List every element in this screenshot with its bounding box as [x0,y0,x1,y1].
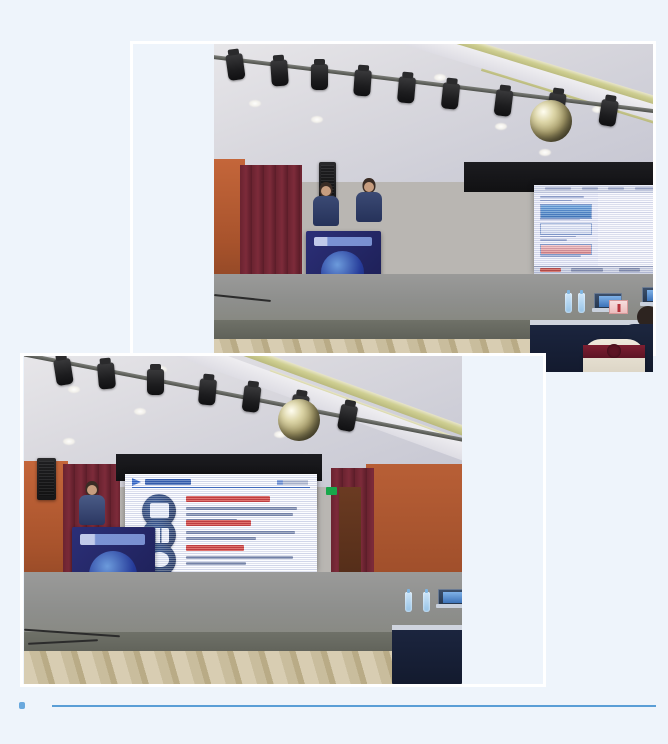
slide-thumbnail [540,204,593,218]
page-canvas [0,0,668,744]
arrow-right-icon [132,478,141,486]
stage-spotlight [270,60,289,87]
pa-speaker [37,458,56,500]
slide-bullet-text [186,543,302,568]
slide-bullet-row [142,543,302,565]
presentation-window [534,185,653,274]
laptop [640,287,653,307]
bullet-line [186,556,293,559]
stage-spotlight [354,70,373,97]
laptop-screen [443,592,462,603]
stage-spotlight [441,83,461,111]
slide-bullet-row [142,494,302,516]
presenter-body [313,196,339,226]
stage-spotlight [397,76,416,103]
water-bottle [565,293,572,313]
stage-spotlight [225,53,245,81]
presenter-body [356,192,382,222]
ceiling-downlight [249,100,261,107]
stage-floor [214,274,653,326]
presenter-face [87,485,97,495]
ceiling-downlight [434,74,446,81]
stage-spotlight [493,89,513,117]
figure-1-photo[interactable] [214,44,653,372]
slide-thumbnail [540,223,593,235]
slide-heading-band [145,479,191,485]
bullet-line [186,507,297,510]
mirror-ball [278,399,320,441]
bullet-heading [186,496,269,502]
slide-thumbnail-panel [534,193,598,267]
conference-hall-scene-2 [24,356,462,684]
slide-bullet-text [186,518,302,543]
laptop [436,589,462,609]
slide-canvas [598,193,653,267]
presenter [354,178,384,224]
ceiling-downlight [311,116,323,123]
water-bottle [578,293,585,313]
chair-sash-knot [607,344,621,358]
footer-rule [52,705,656,707]
audience-table [392,625,462,684]
podium-emblem [80,534,145,545]
stage-spotlight [53,358,74,386]
stage-spotlight [198,378,217,405]
led-screen [534,185,653,274]
slide-bullet-row [142,518,302,540]
window-taskbar [534,266,653,274]
table-edge [392,625,462,630]
bullet-line [186,562,246,565]
presenter [77,481,107,531]
bullet-line [186,537,256,540]
presenter-body [79,495,105,525]
ceiling-downlight [68,386,80,393]
ceiling-downlight [495,123,507,130]
footer-marker [19,702,25,709]
bullet-line [186,531,295,534]
mirror-ball [530,100,572,142]
bullet-line [186,513,293,516]
presenter-face [321,186,331,196]
stage-spotlight [311,64,328,90]
stage-spotlight [241,385,261,413]
stage-curtain [240,165,301,283]
slide-thumbnail [540,244,593,255]
bullet-heading [186,545,244,551]
figure-2-photo[interactable] [24,356,462,684]
stage-spotlight [97,362,116,389]
bullet-heading [186,520,251,526]
laptop-base [436,604,462,608]
slide-heading-rule [132,487,309,488]
water-bottle [423,592,430,612]
ceiling-downlight [539,149,551,156]
laptop-base [640,302,653,306]
presenter-face [364,182,374,192]
slide-heading [132,479,191,486]
presenter [311,182,341,228]
conference-hall-scene-1 [214,44,653,372]
slide-logo [277,480,308,485]
banquet-chair [583,339,645,372]
laptop-screen [647,290,653,301]
water-bottle [405,592,412,612]
stage-spotlight [147,369,164,395]
podium-emblem [314,237,372,246]
exit-sign-icon [326,487,337,495]
